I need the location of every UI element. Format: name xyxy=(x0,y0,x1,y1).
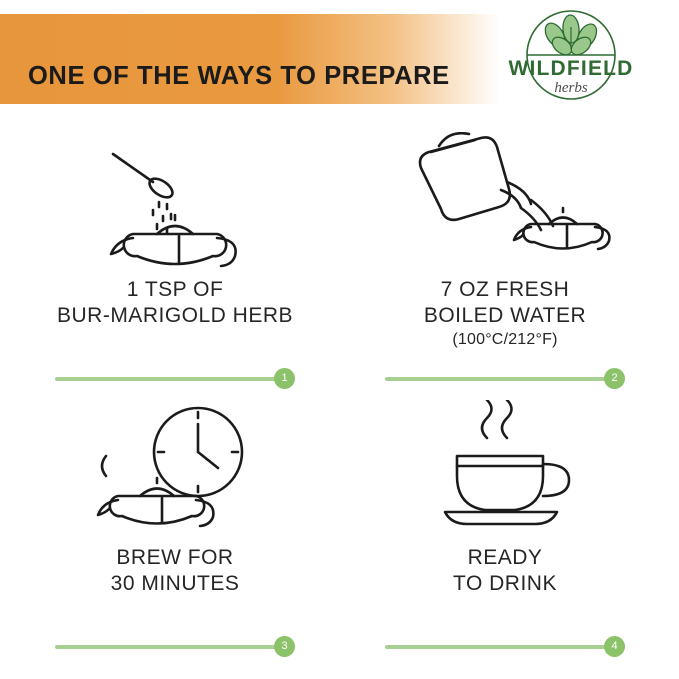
step-2-line1: 7 OZ FRESH xyxy=(340,277,670,303)
step-1-bar-line xyxy=(55,377,287,381)
step-2-art xyxy=(340,132,670,272)
steaming-teacup-icon xyxy=(415,400,595,540)
step-2-bar-line xyxy=(385,377,617,381)
kettle-pouring-into-teapot-icon xyxy=(395,132,615,272)
step-1-progress: 1 xyxy=(55,368,295,390)
step-3-number: 3 xyxy=(274,636,295,657)
teapot-with-spoon-icon xyxy=(75,132,275,272)
step-1-number: 1 xyxy=(274,368,295,389)
step-1: 1 TSP OF BUR-MARIGOLD HERB 1 xyxy=(10,132,340,397)
step-2: 7 OZ FRESH BOILED WATER (100°C/212°F) 2 xyxy=(340,132,670,397)
step-3-line2: 30 MINUTES xyxy=(10,571,340,597)
teapot-with-clock-icon xyxy=(70,400,280,540)
step-4-art xyxy=(340,400,670,540)
brand-logo: WILDFIELD herbs xyxy=(485,5,657,105)
step-2-line2: BOILED WATER xyxy=(340,303,670,329)
step-1-line2: BUR-MARIGOLD HERB xyxy=(10,303,340,329)
step-1-text: 1 TSP OF BUR-MARIGOLD HERB xyxy=(10,277,340,329)
step-2-note: (100°C/212°F) xyxy=(340,329,670,351)
step-4-progress: 4 xyxy=(385,636,625,658)
step-1-line1: 1 TSP OF xyxy=(10,277,340,303)
step-3-text: BREW FOR 30 MINUTES xyxy=(10,545,340,597)
step-4-text: READY TO DRINK xyxy=(340,545,670,597)
infographic-page: ONE OF THE WAYS TO PREPARE WILDFIELD her… xyxy=(0,0,679,679)
step-2-number: 2 xyxy=(604,368,625,389)
step-3-bar-line xyxy=(55,645,287,649)
page-title: ONE OF THE WAYS TO PREPARE xyxy=(28,62,450,91)
step-2-progress: 2 xyxy=(385,368,625,390)
step-4-line2: TO DRINK xyxy=(340,571,670,597)
step-3-progress: 3 xyxy=(55,636,295,658)
steps-grid: 1 TSP OF BUR-MARIGOLD HERB 1 xyxy=(0,120,679,660)
step-4: READY TO DRINK 4 xyxy=(340,400,670,665)
step-4-number: 4 xyxy=(604,636,625,657)
step-3-art xyxy=(10,400,340,540)
logo-brand-name: WILDFIELD xyxy=(485,57,657,81)
step-3: BREW FOR 30 MINUTES 3 xyxy=(10,400,340,665)
step-1-art xyxy=(10,132,340,272)
step-4-line1: READY xyxy=(340,545,670,571)
step-3-line1: BREW FOR xyxy=(10,545,340,571)
step-4-bar-line xyxy=(385,645,617,649)
step-2-text: 7 OZ FRESH BOILED WATER (100°C/212°F) xyxy=(340,277,670,351)
logo-subtitle: herbs xyxy=(485,80,657,97)
